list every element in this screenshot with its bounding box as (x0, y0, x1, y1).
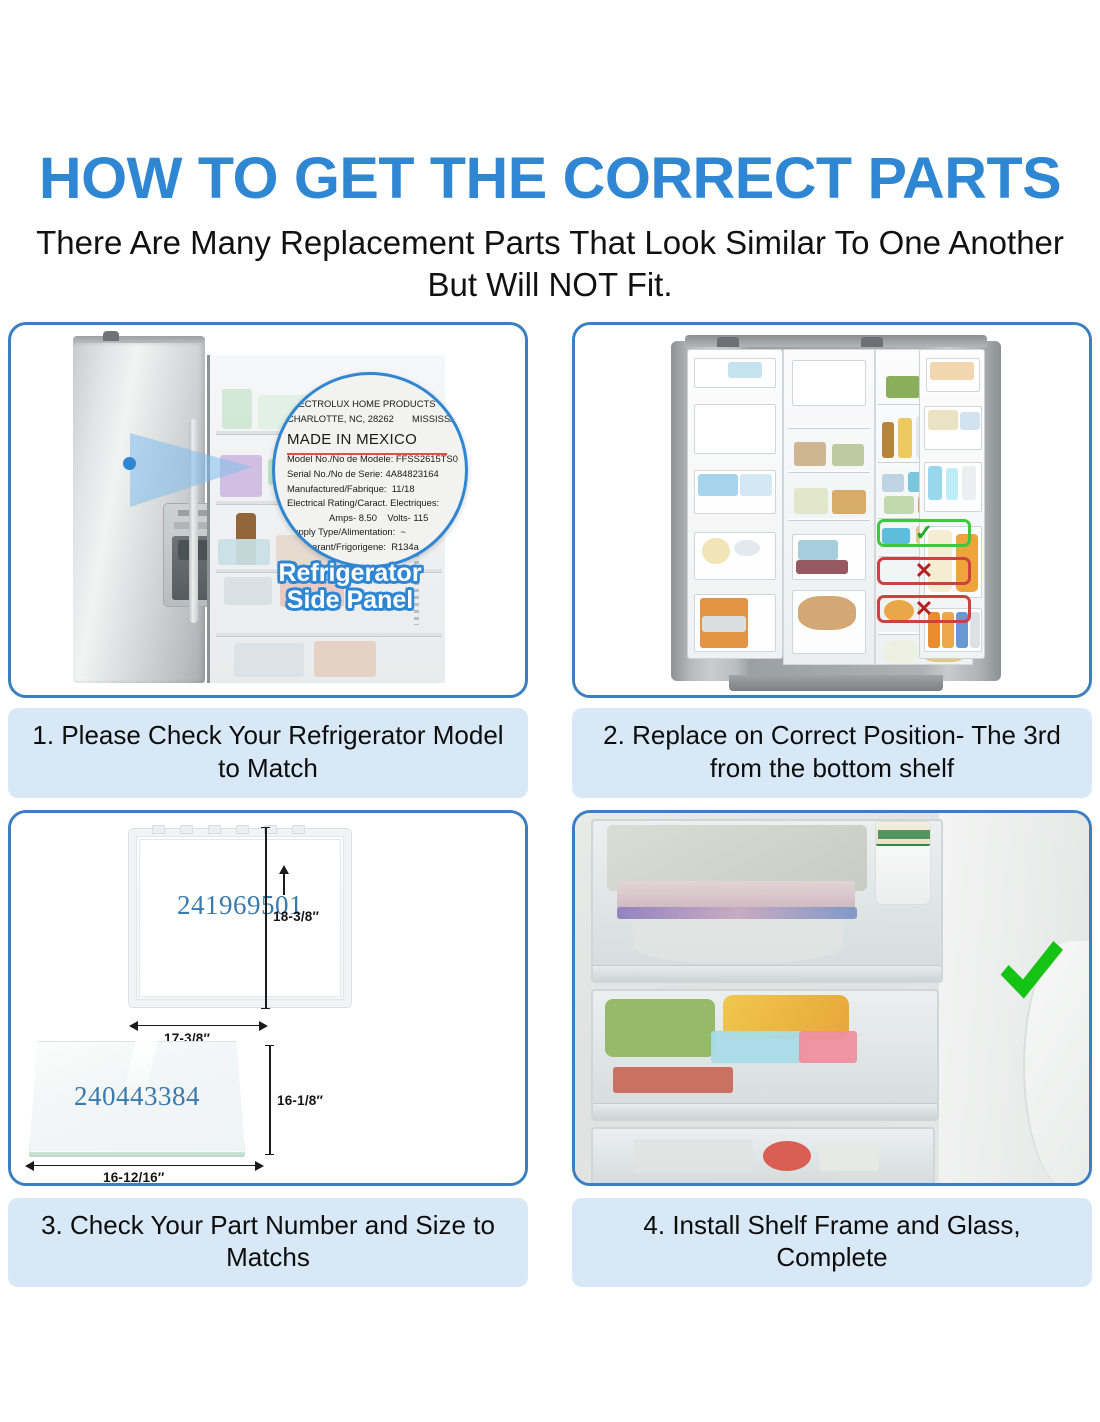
food-item (794, 488, 828, 514)
ziplock-seal (617, 907, 857, 919)
bottle (962, 466, 976, 500)
icemaker (792, 360, 866, 406)
left-arrow-icon (25, 1161, 34, 1171)
label-manufactured-value: 11/18 (392, 483, 415, 494)
frame-tab-icon (180, 825, 193, 834)
callout-line-1: Refrigerator (255, 560, 445, 587)
cross-icon: ✕ (915, 558, 933, 584)
panel-3-image: 241969501 18-3/8″ 17-3/8″ (8, 810, 528, 1186)
food-item (794, 442, 826, 466)
label-amps: Amps- 8.50 (329, 512, 377, 523)
installed-shelf-photo (575, 813, 1089, 1183)
label-volts: Volts- 115 (387, 512, 428, 523)
label-serial-row: Serial No./No de Serie: 4A84823164 (287, 467, 455, 482)
frame-tab-icon (152, 825, 165, 834)
panel-4-caption: 4. Install Shelf Frame and Glass, Comple… (572, 1198, 1092, 1288)
food-item (832, 490, 866, 514)
panel-1-caption: 1. Please Check Your Refrigerator Model … (8, 708, 528, 798)
drawer-front-lip (593, 965, 941, 981)
panel-2-caption: 2. Replace on Correct Position- The 3rd … (572, 708, 1092, 798)
incorrect-shelf-highlight-lower: ✕ (877, 595, 971, 623)
up-arrow-icon (279, 865, 289, 874)
install-correct-check-icon (991, 933, 1071, 1013)
label-city-right: MISSISSA (412, 413, 456, 424)
glass-width-dim-line (33, 1165, 261, 1167)
glass-height-label: 16-1/8″ (277, 1093, 323, 1108)
broccoli (886, 376, 920, 398)
correct-shelf-highlight: ✓ (877, 519, 971, 547)
frame-tab-icon (236, 825, 249, 834)
food-item (613, 1067, 733, 1093)
label-refrigerant-value: R134a (391, 541, 419, 552)
label-model-value: FFSS2615TS0 (396, 453, 458, 464)
up-direction-line (283, 873, 285, 895)
bread (798, 596, 856, 630)
model-label-magnifier: ELECTROLUX HOME PRODUCTS ELECTRO CHARLOT… (272, 372, 468, 568)
label-model-row: Model No./No de Modele: FFSS2615TS0 (287, 452, 455, 467)
bottom-drawer (591, 1127, 935, 1183)
check-icon: ✓ (915, 520, 933, 546)
cabinet-kick-plate (729, 675, 943, 691)
label-location-dot-icon (123, 457, 136, 470)
frame-tab-group (129, 817, 139, 827)
label-company-right: ELECTRO (443, 398, 468, 409)
door-bin (694, 404, 776, 454)
label-model-key: Model No./No de Modele: (287, 453, 393, 464)
food-item (314, 641, 376, 677)
label-supply-key: Supply Type/Alimentation: (287, 526, 395, 537)
food-item (884, 496, 914, 514)
food-item (234, 643, 304, 677)
food-item (832, 444, 864, 466)
carton (799, 1031, 857, 1063)
panel-4-image (572, 810, 1092, 1186)
label-city-left: CHARLOTTE, NC, 28262 (287, 413, 394, 424)
freezer-shelf (788, 426, 870, 429)
bottle (882, 422, 894, 458)
container-label-band (878, 830, 930, 839)
side-panel-callout: Refrigerator Side Panel (255, 560, 445, 614)
frame-height-label: 18-3/8″ (273, 909, 319, 924)
carton (711, 1031, 807, 1063)
refrigerator-open-doors: ✓ ✕ ✕ (671, 335, 1001, 691)
dim-cap (265, 1154, 274, 1156)
food-item (796, 560, 848, 574)
subtitle-line-2: But Will NOT Fit. (8, 264, 1092, 306)
label-electrical-row: Electrical Rating/Caract. Electriques: (287, 496, 455, 511)
glass-part-number: 240443384 (29, 1081, 245, 1112)
freezer-shelf (788, 470, 870, 473)
food-item (960, 412, 980, 430)
model-number-underline (287, 453, 447, 455)
glass-height-dim-line (269, 1045, 271, 1155)
frame-width-dim-line (137, 1025, 265, 1027)
panel-4-cell: 4. Install Shelf Frame and Glass, Comple… (572, 810, 1092, 1288)
right-arrow-icon (255, 1161, 264, 1171)
frame-tab-icon (292, 825, 305, 834)
food-label (702, 616, 746, 632)
food-item (728, 362, 762, 378)
dim-cap (261, 827, 270, 829)
bottle (946, 468, 958, 500)
right-arrow-icon (259, 1021, 268, 1031)
food-item (882, 474, 904, 492)
produce (763, 1141, 811, 1171)
label-company-left: ELECTROLUX HOME PRODUCTS (287, 398, 435, 409)
label-company-row: ELECTROLUX HOME PRODUCTS ELECTRO (287, 397, 455, 412)
incorrect-shelf-highlight-upper: ✕ (877, 557, 971, 585)
cauliflower (884, 640, 918, 664)
panel-grid: 1. Please Check Your Refrigerator Model … (8, 322, 1092, 1287)
model-rating-label: ELECTROLUX HOME PRODUCTS ELECTRO CHARLOT… (275, 375, 465, 565)
vegetable-bag (605, 999, 715, 1057)
shelf-glass: 240443384 (29, 1041, 245, 1159)
subtitle-line-1: There Are Many Replacement Parts That Lo… (8, 222, 1092, 264)
label-manufactured-key: Manufactured/Fabrique: (287, 483, 387, 494)
food-item (698, 474, 738, 496)
fridge-door-left (73, 343, 205, 683)
label-supply-row: Supply Type/Alimentation: ~ (287, 525, 455, 540)
left-arrow-icon (129, 1021, 138, 1031)
eggs (930, 362, 974, 380)
frame-tab-icon (208, 825, 221, 834)
page-title: HOW TO GET THE CORRECT PARTS (0, 150, 1100, 208)
panel-3-cell: 241969501 18-3/8″ 17-3/8″ (8, 810, 528, 1288)
clear-bag (633, 919, 843, 963)
label-city-row: CHARLOTTE, NC, 28262 MISSISSA (287, 412, 455, 427)
food-item (798, 540, 838, 560)
middle-drawer (591, 989, 939, 1121)
hinge-right-icon (861, 337, 883, 347)
frame-height-dim-line (265, 827, 267, 1009)
cross-icon: ✕ (915, 596, 933, 622)
panel-3-caption: 3. Check Your Part Number and Size to Ma… (8, 1198, 528, 1288)
part-dimensions-diagram: 241969501 18-3/8″ 17-3/8″ (11, 813, 525, 1183)
label-refrigerant-row: Refrigerant/Frigorigene: R134a (287, 540, 455, 555)
label-supply-value: ~ (400, 526, 405, 537)
magnifier-cone (130, 433, 252, 507)
glass-width-label: 16-12/16″ (103, 1170, 165, 1185)
dim-cap (265, 1045, 274, 1047)
glass-front-edge (29, 1152, 245, 1157)
interior-shelf (216, 633, 442, 637)
bottle (928, 466, 942, 500)
fridge-hinge-icon (103, 331, 119, 341)
freezer-shelf (788, 518, 870, 521)
callout-line-2: Side Panel (255, 587, 445, 614)
panel-2-image: ✓ ✕ ✕ (572, 322, 1092, 698)
drawer-front-lip (593, 1103, 937, 1119)
food-item (928, 410, 958, 430)
freezer-door-panel (687, 349, 783, 659)
yogurt-container (875, 821, 931, 905)
panel-2-cell: ✓ ✕ ✕ 2. Replace on Correct Position- Th… (572, 322, 1092, 798)
dim-cap (261, 1008, 270, 1010)
food-item (740, 474, 772, 496)
food-item (734, 540, 760, 556)
page-subtitle: There Are Many Replacement Parts That Lo… (0, 222, 1100, 306)
header: HOW TO GET THE CORRECT PARTS There Are M… (0, 0, 1100, 306)
freezer-compartment (783, 349, 875, 665)
label-amps-volts-row: Amps- 8.50 Volts- 115 (287, 511, 455, 526)
label-refrigerant-key: Refrigerant/Frigorigene: (287, 541, 386, 552)
label-made-in: MADE IN MEXICO (287, 428, 455, 451)
label-serial-key: Serial No./No de Serie: (287, 468, 383, 479)
can (970, 612, 980, 648)
food-item (222, 389, 252, 429)
label-serial-value: 4A84823164 (386, 468, 439, 479)
food-item (702, 538, 730, 564)
hinge-left-icon (717, 337, 739, 347)
label-manufactured-row: Manufactured/Fabrique: 11/18 (287, 482, 455, 497)
bottle (898, 418, 912, 458)
food-item (819, 1143, 879, 1171)
side-by-side-refrigerator: ✓ ✕ ✕ (575, 325, 1089, 695)
infographic-page: HOW TO GET THE CORRECT PARTS There Are M… (0, 0, 1100, 1422)
clear-bag (633, 1139, 753, 1173)
